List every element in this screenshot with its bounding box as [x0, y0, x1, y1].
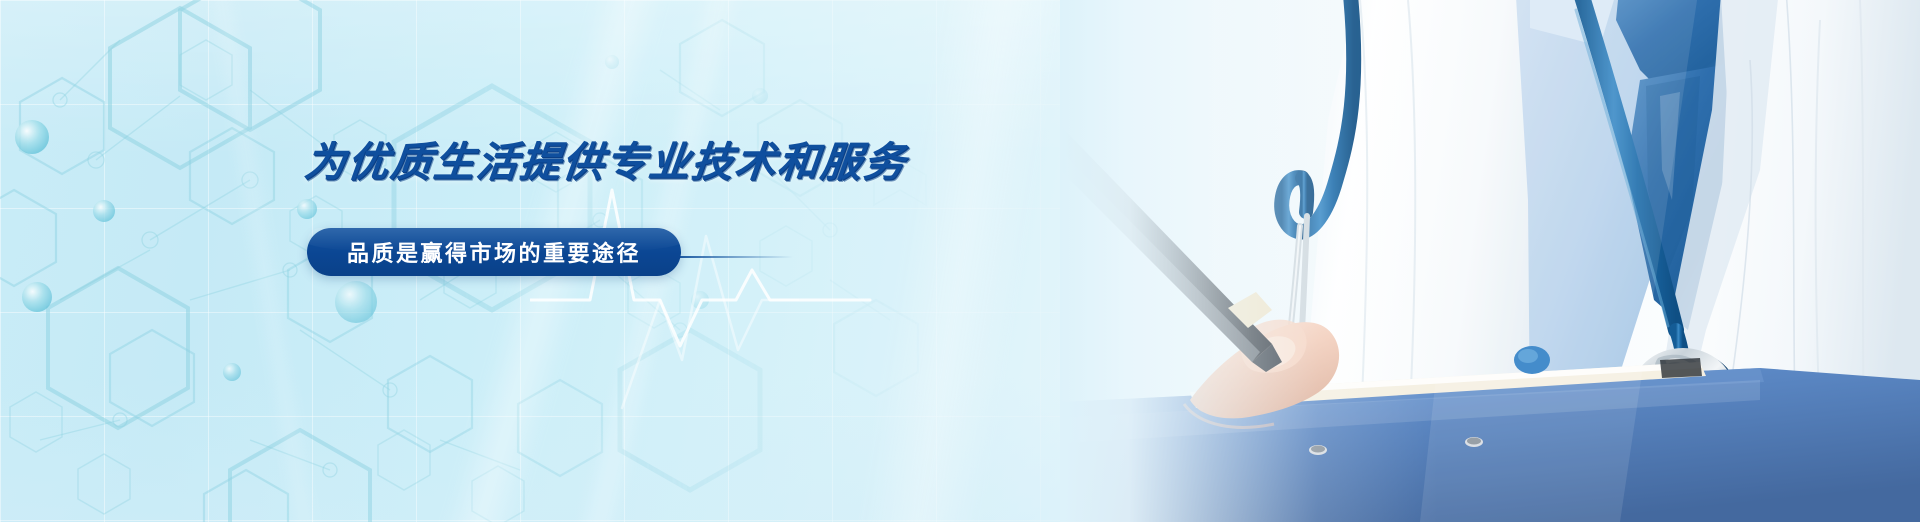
- banner-content: 为优质生活提供专业技术和服务 Quality wins Future 品质是赢得…: [0, 0, 900, 522]
- hero-banner: 为优质生活提供专业技术和服务 Quality wins Future 品质是赢得…: [0, 0, 1920, 522]
- tagline-pill-button[interactable]: 品质是赢得市场的重要途径: [307, 228, 681, 276]
- doctor-photo: [1060, 0, 1920, 522]
- banner-headline: 为优质生活提供专业技术和服务: [302, 128, 910, 188]
- divider-line-right: [675, 256, 793, 258]
- tagline-pill-label: 品质是赢得市场的重要途径: [347, 236, 641, 268]
